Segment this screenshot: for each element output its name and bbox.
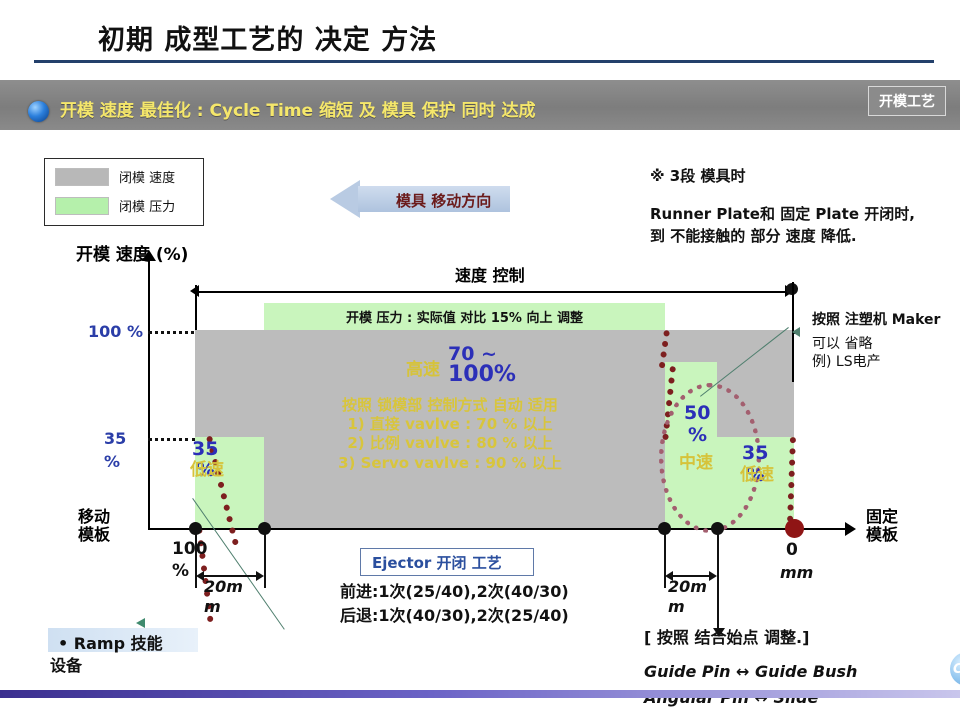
- subtitle-text: 开模 速度 最佳化 : Cycle Time 缩短 及 模具 保护 同时 达成: [60, 96, 536, 121]
- high-speed-label: 高速: [406, 362, 440, 379]
- maker-note-line2: 可以 省略: [812, 335, 872, 355]
- legend-label-close-pressure: 闭模 压力: [119, 196, 175, 215]
- position-left-value: 100: [172, 540, 208, 559]
- maker-note-line3: 例) LS电产: [812, 353, 881, 373]
- dim-arrow-left-end-icon: [256, 571, 264, 581]
- legend: 闭模 速度 闭模 压力: [44, 158, 204, 226]
- y-axis: [148, 258, 150, 530]
- tick-label-100: 100 %: [88, 322, 143, 341]
- valve-note-line-2: 2) 比例 vavlve : 80 % 以上: [292, 434, 608, 453]
- ejector-forward-line: 前进:1次(25/40),2次(40/30): [340, 578, 569, 602]
- position-right-unit: mm: [780, 564, 813, 582]
- tick-label-35-unit: %: [104, 452, 120, 471]
- x-axis-left-label-line1: 移动: [78, 508, 110, 526]
- note-three-stage-mark: ※ 3段 模具时: [650, 166, 745, 186]
- x-axis-right-label-line1: 固定: [866, 508, 898, 526]
- x-axis-arrow-icon: [845, 522, 856, 536]
- valve-note-line-3: 3) Servo vavlve : 90 % 以上: [292, 454, 608, 473]
- footer-bar: [0, 690, 960, 698]
- corner-badge: 开模工艺: [868, 86, 946, 116]
- ramp-leader-arrow-icon: [136, 618, 145, 628]
- watermark-globe-icon: CXS: [950, 652, 960, 686]
- x-axis-right-label: 固定 模板: [866, 508, 898, 545]
- title-bar: 初期 成型工艺的 决定 方法: [0, 0, 960, 72]
- x-axis-left-label-line2: 模板: [78, 526, 110, 544]
- note-runner-plate-line2: 到 不能接触的 部分 速度 降低.: [650, 226, 857, 246]
- mold-direction-arrow-head-icon: [330, 180, 360, 218]
- x-axis-left-label: 移动 模板: [78, 508, 110, 545]
- valve-note: 按照 锁模部 控制方式 自动 适用 1) 直接 vavlve : 70 % 以上…: [292, 396, 608, 473]
- position-right-value: 0: [786, 541, 798, 560]
- legend-swatch-close-pressure: [55, 197, 109, 215]
- legend-label-close-speed: 闭模 速度: [119, 167, 175, 186]
- speed-control-span-label: 速度 控制: [455, 262, 525, 286]
- gridline-35: [148, 438, 196, 441]
- x-axis-right-label-line2: 模板: [866, 526, 898, 544]
- blue-orb-bullet-icon: [28, 101, 49, 122]
- mid-speed-value: 50: [684, 404, 710, 423]
- watermark-mark: CXS: [953, 662, 960, 677]
- y-axis-label: 开模 速度 (%): [76, 240, 188, 265]
- legend-swatch-close-speed: [55, 168, 109, 186]
- ramp-feature-label: • Ramp 技能: [58, 630, 163, 654]
- dim-label-right-line2: m: [668, 598, 685, 616]
- mid-speed-unit: %: [688, 426, 707, 445]
- mid-speed-label: 中速: [679, 455, 713, 472]
- valve-note-line-1: 1) 直接 vavlve : 70 % 以上: [292, 415, 608, 434]
- mold-direction-label: 模具 移动方向: [396, 190, 491, 211]
- dim-arrow-right-end-icon: [709, 571, 717, 581]
- title-underline: [34, 60, 934, 63]
- dim-stem-left-2: [264, 530, 266, 588]
- x-axis: [148, 528, 848, 530]
- valve-note-heading: 按照 锁模部 控制方式 自动 适用: [292, 396, 608, 415]
- low-speed-right-label: 低速: [740, 467, 774, 484]
- low-speed-left-value: 35: [192, 440, 218, 459]
- ramp-feature-sub: 设备: [50, 652, 82, 676]
- axis-point-zero: [785, 519, 804, 538]
- pressure-band-note: 开模 压力 : 实际值 对比 15% 向上 调整: [264, 307, 665, 326]
- position-left-unit: %: [172, 562, 189, 581]
- tick-label-35: 35: [104, 429, 126, 448]
- bottom-note-bracket: [ 按照 结合始点 调整.]: [644, 624, 809, 648]
- dim-label-left-line2: m: [204, 598, 221, 616]
- bottom-note-guide-pin: Guide Pin ↔ Guide Bush: [644, 662, 857, 681]
- ejector-process-title: Ejector 开闭 工艺: [372, 552, 502, 573]
- dim-stem-right-2: [717, 530, 719, 630]
- dim-arrow-left-start-icon: [196, 571, 204, 581]
- low-speed-left-label: 低速: [190, 462, 224, 479]
- high-speed-value-line2: 100%: [448, 364, 516, 386]
- speed-control-span-line: [197, 291, 793, 293]
- note-runner-plate-line1: Runner Plate和 固定 Plate 开闭时,: [650, 204, 915, 224]
- ejector-backward-line: 后退:1次(40/30),2次(25/40): [340, 602, 569, 626]
- maker-note-leader-arrow-icon: [792, 327, 800, 337]
- dim-label-right-line1: 20m: [668, 578, 707, 596]
- maker-note-line1: 按照 注塑机 Maker: [812, 311, 940, 331]
- low-speed-right-value: 35: [742, 444, 768, 463]
- dim-label-left-line1: 20m: [204, 578, 243, 596]
- page-title: 初期 成型工艺的 决定 方法: [98, 18, 437, 57]
